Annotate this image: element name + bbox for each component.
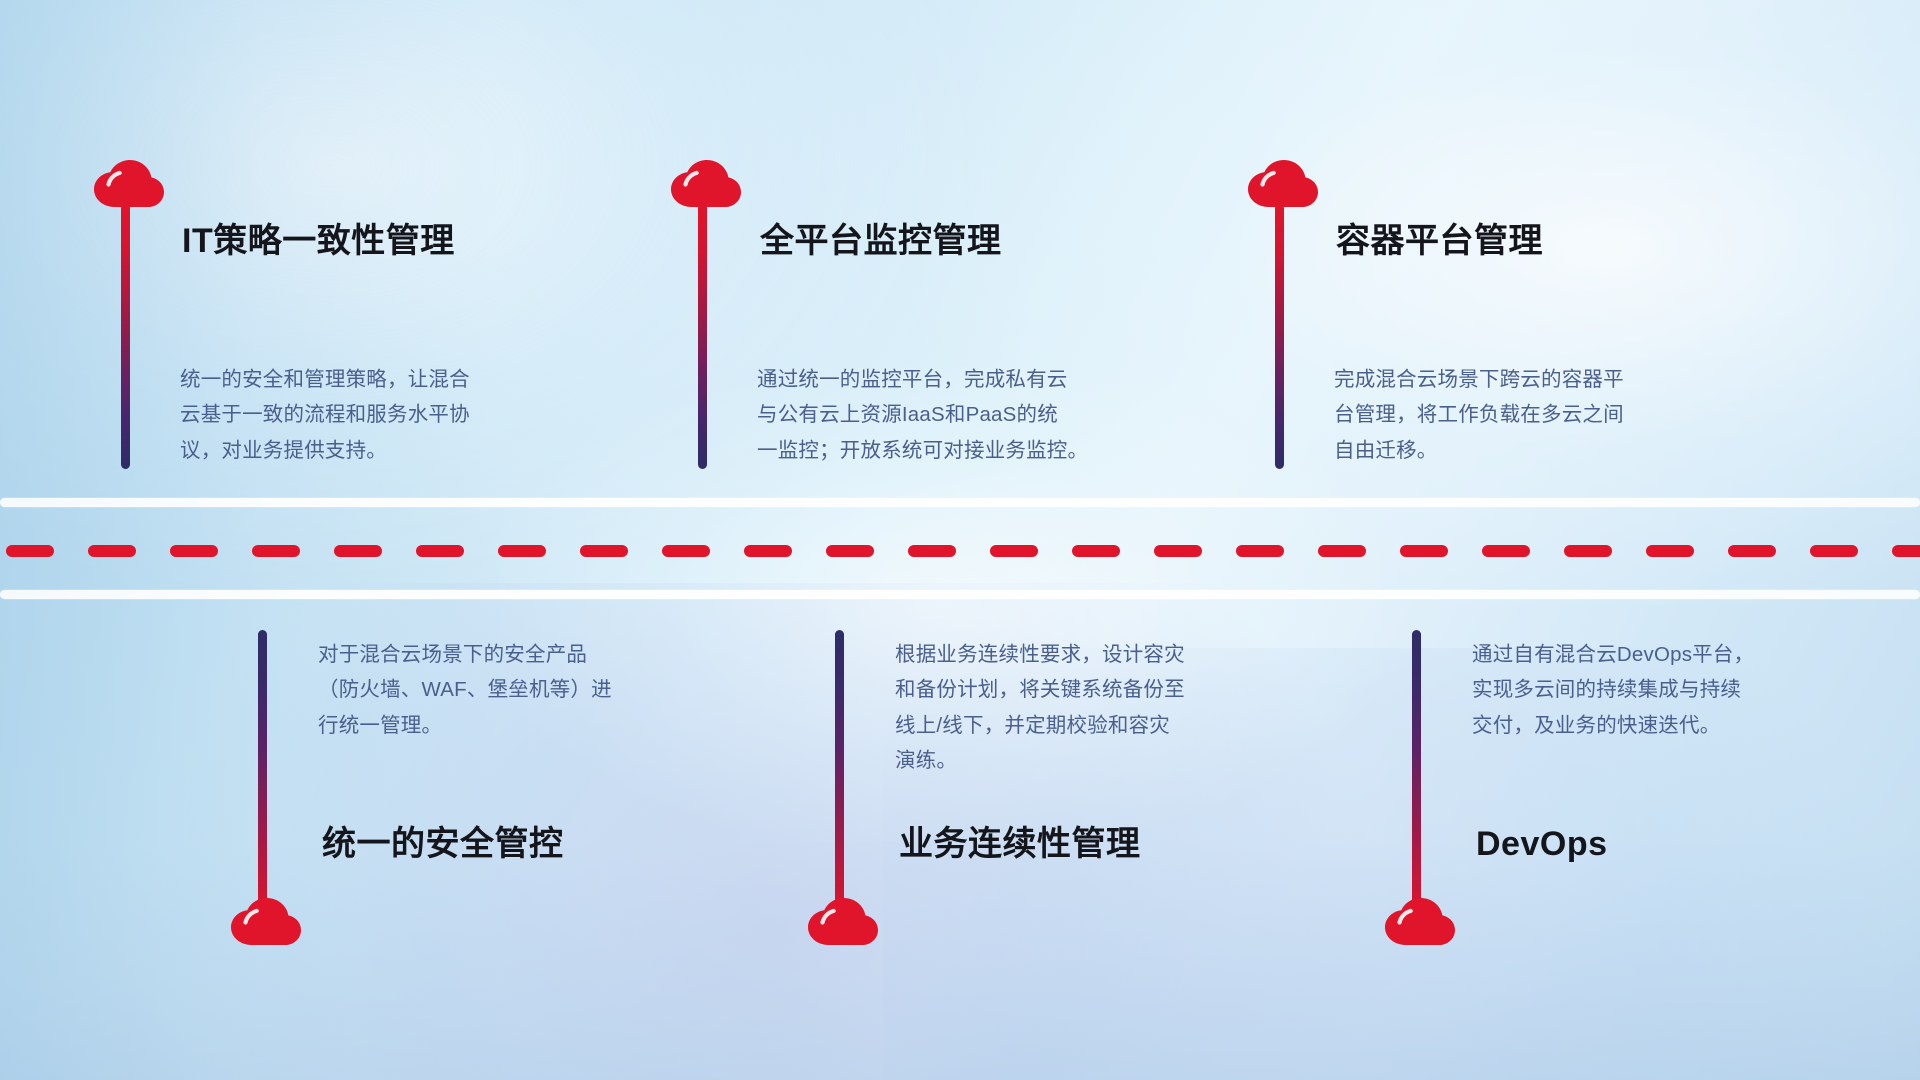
dash-segment xyxy=(1072,545,1120,557)
column-stem xyxy=(121,204,130,469)
dash-segment xyxy=(6,545,54,557)
dash-segment xyxy=(1564,545,1612,557)
dash-segment xyxy=(1236,545,1284,557)
dash-segment xyxy=(1810,545,1858,557)
dash-segment xyxy=(908,545,956,557)
dash-segment xyxy=(1482,545,1530,557)
dash-segment xyxy=(744,545,792,557)
column-stem xyxy=(1412,630,1421,920)
dash-segment xyxy=(1728,545,1776,557)
column-body-text: 根据业务连续性要求，设计容灾 和备份计划，将关键系统备份至 线上/线下，并定期校… xyxy=(895,637,1335,778)
background-vignette-bottom xyxy=(0,842,1920,1080)
dash-segment xyxy=(1154,545,1202,557)
column-title: 容器平台管理 xyxy=(1336,221,1543,262)
column-body-text: 完成混合云场景下跨云的容器平 台管理，将工作负载在多云之间 自由迁移。 xyxy=(1334,362,1764,468)
column-body-text: 对于混合云场景下的安全产品 （防火墙、WAF、堡垒机等）进 行统一管理。 xyxy=(318,637,748,743)
column-body-text: 通过统一的监控平台，完成私有云 与公有云上资源IaaS和PaaS的统 一监控；开… xyxy=(757,362,1207,468)
dash-segment xyxy=(826,545,874,557)
column-title: 业务连续性管理 xyxy=(899,824,1141,865)
cloud-icon xyxy=(94,160,164,210)
red-dashed-separator xyxy=(0,545,1920,557)
dash-segment xyxy=(88,545,136,557)
dash-segment xyxy=(498,545,546,557)
dash-segment xyxy=(252,545,300,557)
dash-segment xyxy=(662,545,710,557)
column-title: IT策略一致性管理 xyxy=(182,221,455,262)
column-body-text: 通过自有混合云DevOps平台， 实现多云间的持续集成与持续 交付，及业务的快速… xyxy=(1472,637,1902,743)
column-stem xyxy=(698,204,707,469)
dash-segment xyxy=(1400,545,1448,557)
column-title: DevOps xyxy=(1476,824,1608,865)
column-body-text: 统一的安全和管理策略，让混合 云基于一致的流程和服务水平协 议，对业务提供支持。 xyxy=(180,362,610,468)
dash-segment xyxy=(334,545,382,557)
dash-segment xyxy=(990,545,1038,557)
cloud-icon xyxy=(231,898,301,948)
dash-segment xyxy=(1892,545,1920,557)
cloud-icon xyxy=(671,160,741,210)
dash-segment xyxy=(416,545,464,557)
column-stem xyxy=(1275,204,1284,469)
dash-segment xyxy=(580,545,628,557)
column-stem xyxy=(835,630,844,920)
divider-line-lower xyxy=(0,590,1920,599)
dash-segment xyxy=(170,545,218,557)
cloud-icon xyxy=(808,898,878,948)
column-title: 全平台监控管理 xyxy=(760,221,1002,262)
divider-line-upper xyxy=(0,498,1920,507)
dash-segment xyxy=(1646,545,1694,557)
cloud-icon xyxy=(1385,898,1455,948)
column-title: 统一的安全管控 xyxy=(322,824,564,865)
column-stem xyxy=(258,630,267,920)
infographic-canvas: IT策略一致性管理 统一的安全和管理策略，让混合 云基于一致的流程和服务水平协 … xyxy=(0,0,1920,1080)
cloud-icon xyxy=(1248,160,1318,210)
dash-segment xyxy=(1318,545,1366,557)
